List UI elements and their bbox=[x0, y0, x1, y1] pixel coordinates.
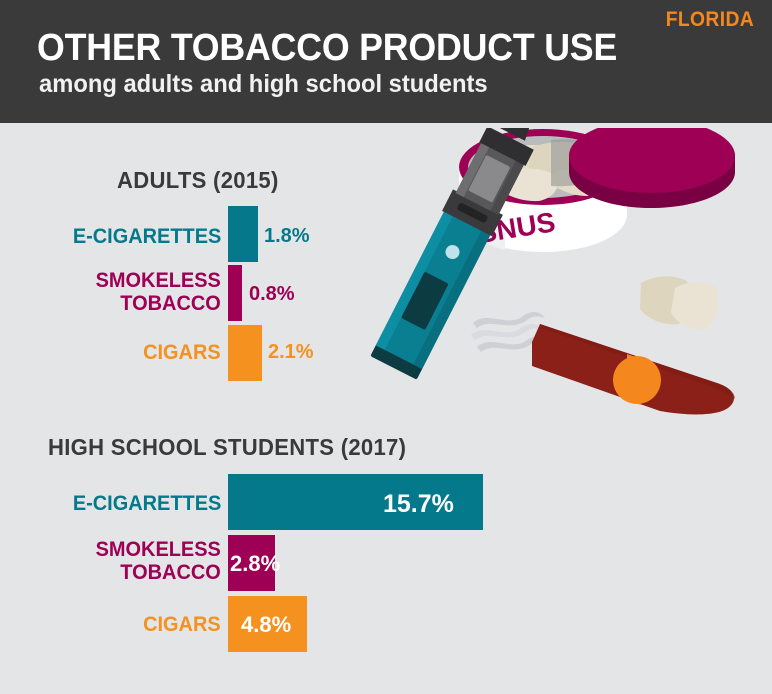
page-subtitle: among adults and high school students bbox=[39, 70, 488, 98]
highschool-label-e-cigarettes: E-CIGARETTES bbox=[72, 492, 221, 515]
adults-label-smokeless-line1: SMOKELESS bbox=[96, 269, 221, 292]
infographic-root: FLORIDA OTHER TOBACCO PRODUCT USE among … bbox=[0, 0, 772, 694]
tobacco-products-illustration: SNUS bbox=[355, 128, 772, 433]
adults-label-smokeless-line2: TOBACCO bbox=[121, 292, 221, 315]
adults-label-cigars: CIGARS bbox=[143, 341, 221, 364]
cigar-icon bbox=[532, 324, 735, 414]
header-banner: FLORIDA OTHER TOBACCO PRODUCT USE among … bbox=[0, 0, 772, 123]
highschool-label-smokeless-line1: SMOKELESS bbox=[96, 538, 221, 561]
adults-value-e-cigarettes: 1.8% bbox=[264, 225, 310, 248]
highschool-label-cigars: CIGARS bbox=[143, 613, 221, 636]
snus-lid-icon bbox=[569, 128, 735, 208]
adults-label-e-cigarettes: E-CIGARETTES bbox=[72, 225, 221, 248]
adults-bar-smokeless bbox=[228, 265, 242, 321]
snus-pouches-icon bbox=[640, 276, 719, 329]
page-title: OTHER TOBACCO PRODUCT USE bbox=[37, 27, 617, 69]
highschool-value-e-cigarettes: 15.7% bbox=[383, 490, 454, 519]
state-label: FLORIDA bbox=[666, 8, 754, 32]
adults-bar-e-cigarettes bbox=[228, 206, 258, 262]
adults-value-smokeless: 0.8% bbox=[249, 283, 295, 306]
adults-value-cigars: 2.1% bbox=[268, 341, 314, 364]
highschool-value-smokeless: 2.8% bbox=[230, 551, 280, 577]
highschool-label-smokeless-line2: TOBACCO bbox=[121, 561, 221, 584]
highschool-value-cigars: 4.8% bbox=[241, 612, 291, 638]
adults-section-title: ADULTS (2015) bbox=[117, 167, 279, 194]
adults-bar-cigars bbox=[228, 325, 262, 381]
highschool-section-title: HIGH SCHOOL STUDENTS (2017) bbox=[48, 434, 406, 461]
